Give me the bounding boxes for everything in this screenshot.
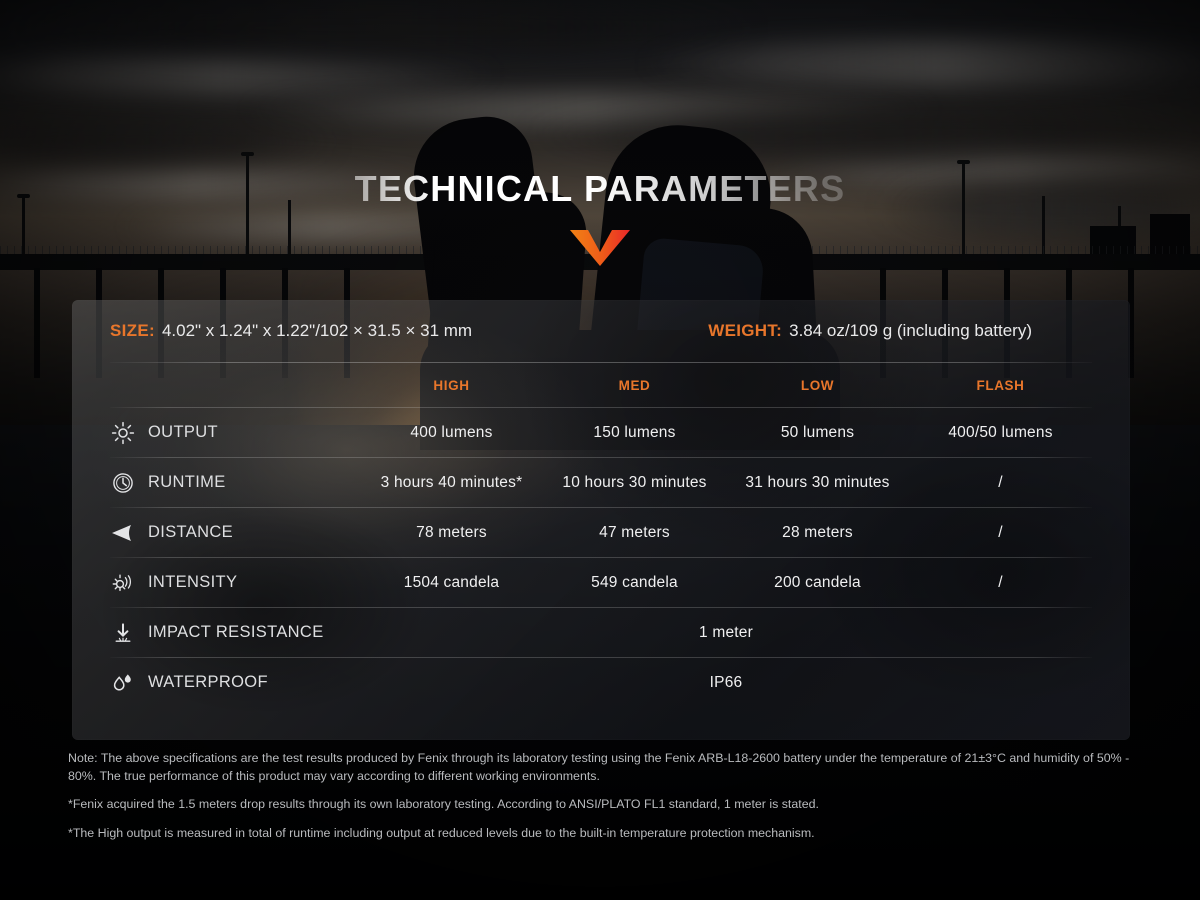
footnote-2: *Fenix acquired the 1.5 meters drop resu… xyxy=(68,796,1138,814)
size-value: 4.02" x 1.24" x 1.22"/102 × 31.5 × 31 mm xyxy=(162,321,472,340)
size-weight-row: SIZE:4.02" x 1.24" x 1.22"/102 × 31.5 × … xyxy=(110,300,1092,362)
cell-distance-high: 78 meters xyxy=(360,508,543,557)
row-label-intensity: INTENSITY xyxy=(110,558,360,607)
cell-intensity-flash: / xyxy=(909,558,1092,607)
mode-header-low: LOW xyxy=(726,363,909,407)
table-row: OUTPUT 400 lumens 150 lumens 50 lumens 4… xyxy=(110,408,1092,457)
row-label-text: RUNTIME xyxy=(148,473,226,492)
cell-output-low: 50 lumens xyxy=(726,408,909,457)
row-label-text: INTENSITY xyxy=(148,573,237,592)
weight-group: WEIGHT:3.84 oz/109 g (including battery) xyxy=(708,321,1092,341)
impact-drop-icon xyxy=(110,620,136,646)
cell-output-high: 400 lumens xyxy=(360,408,543,457)
cell-waterproof-all: IP66 xyxy=(360,658,1092,707)
row-label-text: WATERPROOF xyxy=(148,673,268,692)
cell-output-med: 150 lumens xyxy=(543,408,726,457)
footnote-1: Note: The above specifications are the t… xyxy=(68,750,1138,785)
cell-distance-low: 28 meters xyxy=(726,508,909,557)
row-label-impact-resistance: IMPACT RESISTANCE xyxy=(110,608,360,657)
chevron-divider-container xyxy=(0,228,1200,273)
chevron-down-icon xyxy=(568,228,632,273)
page-title-container: TECHNICAL PARAMETERS xyxy=(0,168,1200,210)
cell-runtime-flash: / xyxy=(909,458,1092,507)
cell-runtime-low: 31 hours 30 minutes xyxy=(726,458,909,507)
cell-impact-resistance-all: 1 meter xyxy=(360,608,1092,657)
table-row: IMPACT RESISTANCE 1 meter xyxy=(110,608,1092,657)
row-label-distance: DISTANCE xyxy=(110,508,360,557)
row-label-text: OUTPUT xyxy=(148,423,218,442)
row-label-waterproof: WATERPROOF xyxy=(110,658,360,707)
clock-icon xyxy=(110,470,136,496)
mode-header-med: MED xyxy=(543,363,726,407)
specifications-table: HIGH MED LOW FLASH xyxy=(110,363,1092,707)
mode-header-flash: FLASH xyxy=(909,363,1092,407)
footnotes: Note: The above specifications are the t… xyxy=(68,750,1138,842)
table-row: DISTANCE 78 meters 47 meters 28 meters / xyxy=(110,508,1092,557)
size-label: SIZE: xyxy=(110,321,155,340)
brightness-sun-icon xyxy=(110,420,136,446)
spec-panel: SIZE:4.02" x 1.24" x 1.22"/102 × 31.5 × … xyxy=(72,300,1130,740)
cell-runtime-high: 3 hours 40 minutes* xyxy=(360,458,543,507)
beam-distance-icon xyxy=(110,520,136,546)
size-group: SIZE:4.02" x 1.24" x 1.22"/102 × 31.5 × … xyxy=(110,321,472,341)
table-row: WATERPROOF IP66 xyxy=(110,658,1092,707)
cell-intensity-high: 1504 candela xyxy=(360,558,543,607)
mode-header-high: HIGH xyxy=(360,363,543,407)
footnote-3: *The High output is measured in total of… xyxy=(68,825,1138,843)
page-title: TECHNICAL PARAMETERS xyxy=(355,168,846,210)
cell-distance-flash: / xyxy=(909,508,1092,557)
table-row: RUNTIME 3 hours 40 minutes* 10 hours 30 … xyxy=(110,458,1092,507)
row-label-text: IMPACT RESISTANCE xyxy=(148,623,324,642)
weight-label: WEIGHT: xyxy=(708,321,782,341)
mode-header-blank xyxy=(110,363,360,407)
weight-value: 3.84 oz/109 g (including battery) xyxy=(789,321,1032,341)
cell-output-flash: 400/50 lumens xyxy=(909,408,1092,457)
cell-runtime-med: 10 hours 30 minutes xyxy=(543,458,726,507)
row-label-runtime: RUNTIME xyxy=(110,458,360,507)
cell-distance-med: 47 meters xyxy=(543,508,726,557)
waterproof-icon xyxy=(110,670,136,696)
row-label-text: DISTANCE xyxy=(148,523,233,542)
table-row: INTENSITY 1504 candela 549 candela 200 c… xyxy=(110,558,1092,607)
row-label-output: OUTPUT xyxy=(110,408,360,457)
intensity-icon xyxy=(110,570,136,596)
mode-header-row: HIGH MED LOW FLASH xyxy=(110,363,1092,407)
cell-intensity-med: 549 candela xyxy=(543,558,726,607)
cell-intensity-low: 200 candela xyxy=(726,558,909,607)
